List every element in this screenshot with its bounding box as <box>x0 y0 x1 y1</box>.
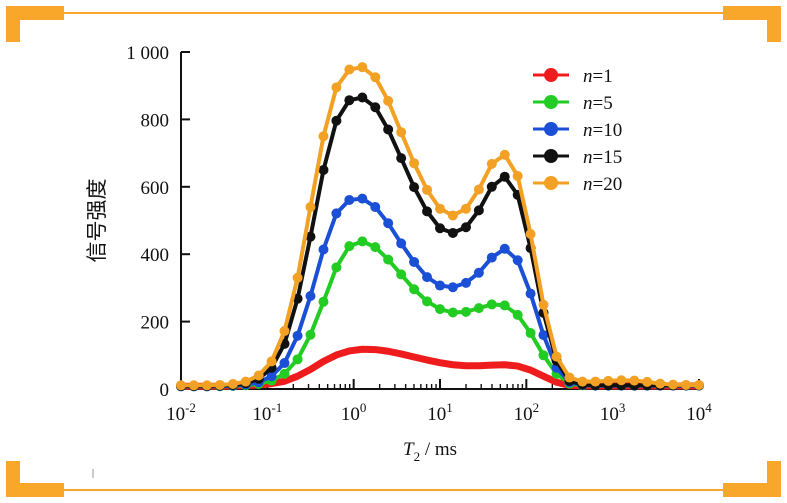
axis-spines <box>181 52 699 389</box>
x-tick-label: 104 <box>686 400 712 425</box>
series-marker <box>474 185 484 195</box>
series-marker <box>448 228 458 238</box>
series-marker <box>461 278 471 288</box>
series-n-15 <box>176 93 704 391</box>
series-marker <box>642 377 652 387</box>
x-axis-label: T2 / ms <box>403 439 457 464</box>
series-marker <box>435 281 445 291</box>
series-marker <box>331 208 341 218</box>
legend-marker <box>544 122 558 136</box>
y-tick-label: 800 <box>141 110 170 131</box>
series-marker <box>344 65 354 75</box>
series-marker <box>331 116 341 126</box>
series-marker <box>228 379 238 389</box>
legend-label: n=10 <box>583 120 622 141</box>
series-marker <box>357 194 367 204</box>
legend-item-n=1: n=1 <box>533 66 613 87</box>
series-marker <box>422 296 432 306</box>
x-tick-label: 100 <box>341 400 367 425</box>
series-marker <box>383 255 393 265</box>
y-tick-label: 400 <box>141 245 170 266</box>
series-marker <box>305 291 315 301</box>
series-marker <box>383 125 393 135</box>
series-marker <box>409 284 419 294</box>
series-marker <box>487 299 497 309</box>
legend-item-n=20: n=20 <box>533 174 622 195</box>
series-marker <box>293 273 303 283</box>
series-marker <box>538 350 548 360</box>
series-marker <box>267 356 277 366</box>
series-marker <box>448 282 458 292</box>
series-marker <box>279 369 289 379</box>
legend-item-n=5: n=5 <box>533 93 613 114</box>
series-marker <box>357 62 367 72</box>
series-marker <box>279 326 289 336</box>
series-marker <box>254 371 264 381</box>
series-marker <box>344 195 354 205</box>
series-marker <box>435 304 445 314</box>
series-marker <box>344 95 354 105</box>
series-marker <box>176 380 186 390</box>
series-marker <box>370 72 380 82</box>
series-marker <box>241 377 251 387</box>
x-tick-label: 101 <box>427 400 453 425</box>
chart-canvas: 02004006008001 00010-210-110010110210310… <box>0 0 787 503</box>
series-marker <box>318 165 328 175</box>
legend-marker <box>544 95 558 109</box>
series-n-5 <box>176 236 704 391</box>
legend-label: n=20 <box>583 174 622 195</box>
series-marker <box>305 330 315 340</box>
series-marker <box>655 379 665 389</box>
series-marker <box>370 102 380 112</box>
series-marker <box>409 257 419 267</box>
series-marker <box>422 185 432 195</box>
series-marker <box>538 300 548 310</box>
series-marker <box>357 93 367 103</box>
series-marker <box>435 223 445 233</box>
series-marker <box>577 377 587 387</box>
series-marker <box>564 373 574 383</box>
series-marker <box>448 308 458 318</box>
series-marker <box>448 210 458 220</box>
series-marker <box>409 182 419 192</box>
series-marker <box>318 131 328 141</box>
legend-marker <box>544 176 558 190</box>
legend-item-n=15: n=15 <box>533 147 622 168</box>
series-marker <box>694 380 704 390</box>
series-marker <box>383 96 393 106</box>
series-marker <box>513 171 523 181</box>
series-marker <box>487 182 497 192</box>
series-marker <box>396 238 406 248</box>
y-tick-label: 600 <box>141 178 170 199</box>
series-marker <box>396 269 406 279</box>
series-marker <box>461 307 471 317</box>
x-tick-label: 102 <box>514 400 540 425</box>
y-tick-label: 200 <box>141 313 170 334</box>
x-tick-label: 103 <box>600 400 626 425</box>
series-marker <box>629 376 639 386</box>
series-marker <box>474 303 484 313</box>
series-marker <box>293 331 303 341</box>
series-marker <box>603 376 613 386</box>
series-marker <box>487 253 497 263</box>
series-marker <box>474 268 484 278</box>
legend-marker <box>544 68 558 82</box>
legend-item-n=10: n=10 <box>533 120 622 141</box>
series-marker <box>526 229 536 239</box>
series-marker <box>409 158 419 168</box>
series-marker <box>500 150 510 160</box>
series-marker <box>513 310 523 320</box>
series-marker <box>383 218 393 228</box>
legend-layer: n=1n=5n=10n=15n=20 <box>533 66 622 195</box>
legend-marker <box>544 149 558 163</box>
x-tick-label: 10-2 <box>166 400 196 425</box>
series-marker <box>500 300 510 310</box>
series-marker <box>590 377 600 387</box>
y-tick-label: 1 000 <box>126 43 169 64</box>
series-marker <box>513 255 523 265</box>
series-marker <box>305 202 315 212</box>
series-marker <box>422 206 432 216</box>
series-marker <box>552 352 562 362</box>
series-marker <box>293 354 303 364</box>
y-axis-label: 信号强度 <box>85 179 109 263</box>
series-marker <box>422 272 432 282</box>
series-marker <box>331 82 341 92</box>
series-marker <box>668 380 678 390</box>
series-marker <box>357 236 367 246</box>
chart-figure: 02004006008001 00010-210-110010110210310… <box>0 0 787 503</box>
series-marker <box>370 242 380 252</box>
legend-label: n=5 <box>583 93 613 114</box>
series-marker <box>318 244 328 254</box>
axis-layer: 02004006008001 00010-210-110010110210310… <box>126 43 712 425</box>
series-marker <box>435 204 445 214</box>
series-layer <box>176 62 704 391</box>
legend-label: n=1 <box>583 66 613 87</box>
series-marker <box>331 262 341 272</box>
series-marker <box>526 289 536 299</box>
series-marker <box>215 380 225 390</box>
series-marker <box>500 244 510 254</box>
series-marker <box>526 328 536 338</box>
series-marker <box>681 380 691 390</box>
series-marker <box>396 153 406 163</box>
series-marker <box>461 204 471 214</box>
series-marker <box>487 159 497 169</box>
series-marker <box>616 375 626 385</box>
y-tick-label: 0 <box>160 380 170 401</box>
series-marker <box>396 127 406 137</box>
series-marker <box>474 205 484 215</box>
series-marker <box>189 380 199 390</box>
legend-label: n=15 <box>583 147 622 168</box>
series-marker <box>318 297 328 307</box>
series-marker <box>279 358 289 368</box>
series-marker <box>344 241 354 251</box>
series-marker <box>500 172 510 182</box>
series-marker <box>370 202 380 212</box>
series-marker <box>461 222 471 232</box>
series-marker <box>202 380 212 390</box>
x-tick-label: 10-1 <box>252 400 282 425</box>
